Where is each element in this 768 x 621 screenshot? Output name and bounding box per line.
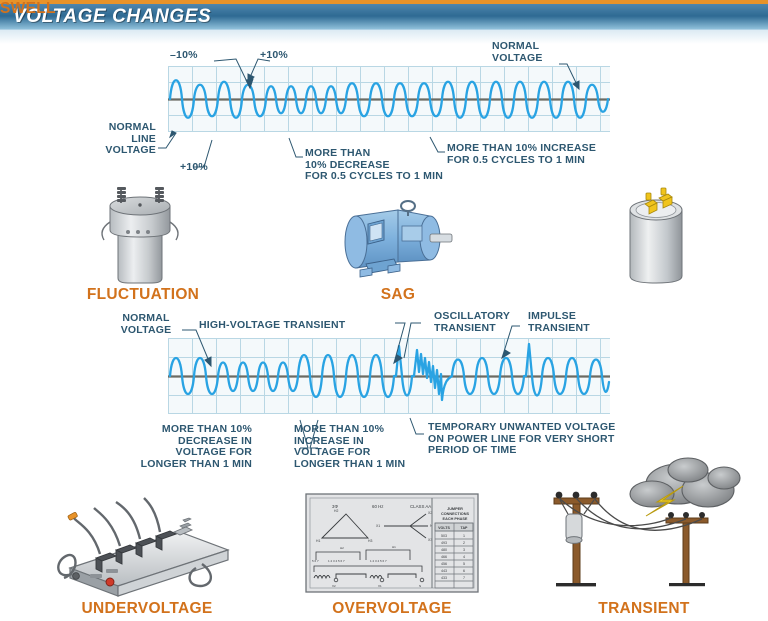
label-increase-note-top: MORE THAN 10% INCREASE FOR 0.5 CYCLES TO… <box>447 143 596 166</box>
swell-capacitor-image <box>612 184 702 284</box>
svg-text:JUMPER: JUMPER <box>447 507 463 511</box>
label-increase-note-bottom: MORE THAN 10% INCREASE IN VOLTAGE FOR LO… <box>294 424 405 470</box>
label-impulse-transient: IMPULSE TRANSIENT <box>528 311 590 334</box>
svg-text:X2: X2 <box>332 584 336 588</box>
nameplate-class-text: CLASS AA <box>410 504 431 509</box>
label-normal-voltage-top: NORMAL VOLTAGE <box>492 41 543 64</box>
svg-text:456: 456 <box>441 562 447 566</box>
label-minus-ten-percent: –10% <box>170 50 198 62</box>
svg-text:H1: H1 <box>316 539 320 543</box>
svg-text:H1: H1 <box>392 545 396 549</box>
svg-text:CONNECTIONS: CONNECTIONS <box>441 512 470 516</box>
svg-text:443: 443 <box>441 569 447 573</box>
svg-text:N: N <box>419 584 421 588</box>
label-normal-line-voltage: NORMAL LINE VOLTAGE <box>88 122 156 157</box>
svg-text:X1: X1 <box>378 584 382 588</box>
nameplate-col-tap: TAP <box>461 526 469 530</box>
svg-text:H3: H3 <box>368 539 372 543</box>
svg-text:4: 4 <box>463 555 465 559</box>
label-normal-voltage-bottom: NORMAL VOLTAGE <box>108 313 184 336</box>
label-decrease-note-bottom: MORE THAN 10% DECREASE IN VOLTAGE FOR LO… <box>128 424 252 470</box>
fluctuation-transformer-image <box>88 184 198 284</box>
category-label-swell: SWELL <box>0 0 56 18</box>
svg-text:H2: H2 <box>334 509 338 513</box>
overvoltage-nameplate-image: 3Φ 60 Hz CLASS AA H2H1H3 X1X2NX3 5 6 71 … <box>306 494 478 592</box>
svg-text:H2: H2 <box>340 546 344 550</box>
category-label-transient: TRANSIENT <box>528 600 760 618</box>
svg-text:X1: X1 <box>376 524 380 528</box>
label-plus-ten-percent-bottom: +10% <box>180 162 208 174</box>
category-label-overvoltage: OVERVOLTAGE <box>300 600 484 618</box>
svg-text:5: 5 <box>463 562 465 566</box>
category-label-undervoltage: UNDERVOLTAGE <box>52 600 242 618</box>
svg-text:3: 3 <box>463 548 465 552</box>
svg-text:503: 503 <box>441 534 447 538</box>
svg-text:6: 6 <box>463 569 465 573</box>
label-high-voltage-transient: HIGH-VOLTAGE TRANSIENT <box>199 320 345 332</box>
label-plus-ten-percent-top: +10% <box>260 50 288 62</box>
label-decrease-note-top: MORE THAN 10% DECREASE FOR 0.5 CYCLES TO… <box>305 148 443 183</box>
svg-text:480: 480 <box>441 548 447 552</box>
undervoltage-power-strip-image <box>52 488 242 594</box>
svg-text:1 2 3 4 5 6 7: 1 2 3 4 5 6 7 <box>328 559 345 563</box>
svg-text:5 6 7: 5 6 7 <box>312 559 319 563</box>
label-oscillatory-transient: OSCILLATORY TRANSIENT <box>434 311 510 334</box>
nameplate-col-volts: VOLTS <box>438 526 450 530</box>
svg-text:7: 7 <box>463 576 465 580</box>
svg-text:1: 1 <box>463 534 465 538</box>
svg-text:433: 433 <box>441 576 447 580</box>
nameplate-frequency-text: 60 Hz <box>372 504 383 509</box>
svg-text:493: 493 <box>441 541 447 545</box>
svg-text:466: 466 <box>441 555 447 559</box>
sag-motor-image <box>338 196 458 284</box>
svg-text:1 2 3 4 5 6 7: 1 2 3 4 5 6 7 <box>370 559 387 563</box>
svg-text:EACH PHASE: EACH PHASE <box>443 517 468 521</box>
transient-power-line-image <box>528 452 760 592</box>
svg-text:2: 2 <box>463 541 465 545</box>
